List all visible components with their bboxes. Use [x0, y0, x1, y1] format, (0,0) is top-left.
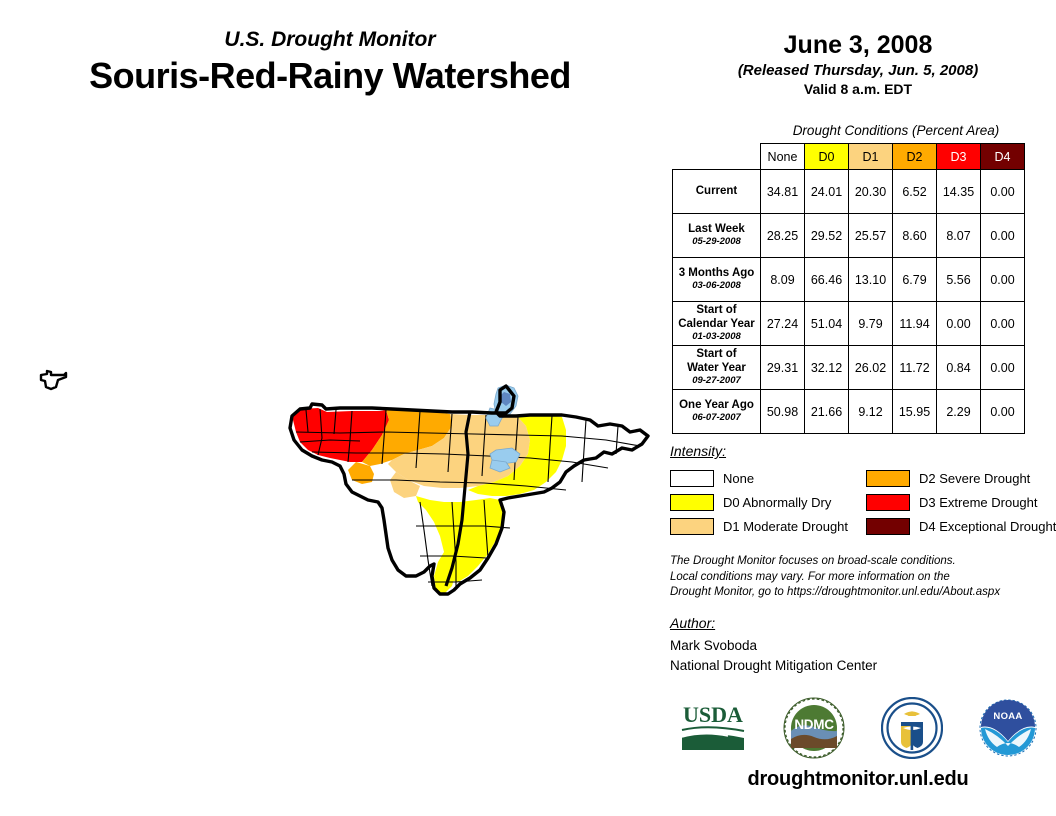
website-url: droughtmonitor.unl.edu: [660, 768, 1056, 791]
map-inset-outline-icon: [38, 368, 70, 396]
author-block: Author: Mark Svoboda National Drought Mi…: [670, 615, 1056, 675]
page-title: Souris-Red-Rainy Watershed: [0, 57, 660, 95]
watershed-drought-map: [0, 120, 660, 720]
drought-monitor-page: U.S. Drought Monitor Souris-Red-Rainy Wa…: [0, 0, 1056, 816]
table-cell-d0: 24.01: [805, 170, 849, 214]
author-name: Mark Svoboda: [670, 636, 1056, 656]
legend-swatch: [670, 470, 714, 487]
legend-item: D1 Moderate Drought: [670, 518, 866, 535]
row-label: Current: [673, 170, 761, 214]
table-cell-d0: 21.66: [805, 390, 849, 434]
table-cell-d0: 66.46: [805, 258, 849, 302]
column-header-d0: D0: [805, 144, 849, 170]
table-caption: Drought Conditions (Percent Area): [760, 123, 1032, 138]
table-cell-d2: 6.79: [893, 258, 937, 302]
svg-text:USDA: USDA: [683, 702, 743, 727]
date-block: June 3, 2008 (Released Thursday, Jun. 5,…: [660, 32, 1056, 97]
legend-swatch: [670, 494, 714, 511]
map-date: June 3, 2008: [660, 32, 1056, 60]
author-label: Author:: [670, 615, 1056, 631]
table-cell-none: 34.81: [761, 170, 805, 214]
table-cell-d1: 13.10: [849, 258, 893, 302]
legend-swatch: [670, 518, 714, 535]
intensity-legend-title: Intensity:: [670, 443, 1056, 459]
row-label: 3 Months Ago03-06-2008: [673, 258, 761, 302]
column-header-d1: D1: [849, 144, 893, 170]
table-cell-d1: 9.12: [849, 390, 893, 434]
drought-conditions-table: None D0 D1 D2 D3 D4 Current34.8124.0120.…: [672, 143, 1025, 434]
table-cell-d2: 8.60: [893, 214, 937, 258]
ndmc-logo: NDMC: [783, 697, 845, 764]
intensity-legend: Intensity: NoneD2 Severe DroughtD0 Abnor…: [670, 443, 1056, 538]
table-cell-none: 29.31: [761, 346, 805, 390]
row-label: One Year Ago06-07-2007: [673, 390, 761, 434]
legend-label: D3 Extreme Drought: [919, 495, 1038, 510]
table-cell-d3: 0.00: [937, 302, 981, 346]
table-cell-d3: 2.29: [937, 390, 981, 434]
table-cell-d1: 25.57: [849, 214, 893, 258]
legend-item: None: [670, 470, 866, 487]
logos-row: USDA NDMC: [660, 694, 1056, 766]
table-cell-d1: 20.30: [849, 170, 893, 214]
legend-item: D4 Exceptional Drought: [866, 518, 1056, 535]
table-cell-d4: 0.00: [981, 346, 1025, 390]
release-date: (Released Thursday, Jun. 5, 2008): [660, 63, 1056, 80]
table-body: Current34.8124.0120.306.5214.350.00Last …: [673, 170, 1025, 434]
disclaimer-line-3: Drought Monitor, go to https://droughtmo…: [670, 585, 1056, 601]
table-cell-d4: 0.00: [981, 302, 1025, 346]
table-row: Current34.8124.0120.306.5214.350.00: [673, 170, 1025, 214]
valid-time: Valid 8 a.m. EDT: [660, 82, 1056, 97]
noaa-logo: NOAA: [978, 698, 1038, 763]
table-header-row: None D0 D1 D2 D3 D4: [673, 144, 1025, 170]
column-header-d4: D4: [981, 144, 1025, 170]
table-row: Start ofCalendar Year01-03-200827.2451.0…: [673, 302, 1025, 346]
table-row: Last Week05-29-200828.2529.5225.578.608.…: [673, 214, 1025, 258]
table-cell-d2: 11.94: [893, 302, 937, 346]
row-label-date: 06-07-2007: [676, 413, 757, 424]
disclaimer-text: The Drought Monitor focuses on broad-sca…: [670, 554, 1056, 601]
table-cell-none: 27.24: [761, 302, 805, 346]
disclaimer-line-1: The Drought Monitor focuses on broad-sca…: [670, 554, 1056, 570]
legend-item: D2 Severe Drought: [866, 470, 1056, 487]
author-affiliation: National Drought Mitigation Center: [670, 656, 1056, 676]
table-row: One Year Ago06-07-200750.9821.669.1215.9…: [673, 390, 1025, 434]
row-label: Start ofCalendar Year01-03-2008: [673, 302, 761, 346]
table-cell-d0: 51.04: [805, 302, 849, 346]
row-label-date: 05-29-2008: [676, 237, 757, 248]
table-row: Start ofWater Year09-27-200729.3132.1226…: [673, 346, 1025, 390]
column-header-none: None: [761, 144, 805, 170]
table-cell-d0: 32.12: [805, 346, 849, 390]
legend-label: D4 Exceptional Drought: [919, 519, 1056, 534]
table-cell-d2: 6.52: [893, 170, 937, 214]
table-corner-cell: [673, 144, 761, 170]
legend-item: D0 Abnormally Dry: [670, 494, 866, 511]
legend-swatch: [866, 518, 910, 535]
table-cell-d4: 0.00: [981, 214, 1025, 258]
column-header-d2: D2: [893, 144, 937, 170]
legend-label: None: [723, 471, 754, 486]
column-header-d3: D3: [937, 144, 981, 170]
legend-item: D3 Extreme Drought: [866, 494, 1056, 511]
table-cell-d0: 29.52: [805, 214, 849, 258]
map-area: [0, 120, 660, 720]
table-cell-none: 8.09: [761, 258, 805, 302]
legend-grid: NoneD2 Severe DroughtD0 Abnormally DryD3…: [670, 466, 1056, 538]
row-label: Last Week05-29-2008: [673, 214, 761, 258]
usda-logo: USDA: [678, 700, 748, 761]
legend-label: D1 Moderate Drought: [723, 519, 848, 534]
table-cell-d2: 11.72: [893, 346, 937, 390]
usdc-seal-logo: [881, 697, 943, 764]
disclaimer-line-2: Local conditions may vary. For more info…: [670, 570, 1056, 586]
table-cell-d2: 15.95: [893, 390, 937, 434]
row-label-date: 03-06-2008: [676, 281, 757, 292]
table-cell-d3: 8.07: [937, 214, 981, 258]
row-label-date: 09-27-2007: [676, 376, 757, 387]
legend-label: D2 Severe Drought: [919, 471, 1030, 486]
row-label: Start ofWater Year09-27-2007: [673, 346, 761, 390]
organization-title: U.S. Drought Monitor: [0, 28, 660, 51]
table-cell-d1: 26.02: [849, 346, 893, 390]
table-cell-d4: 0.00: [981, 390, 1025, 434]
svg-text:NDMC: NDMC: [795, 717, 835, 732]
table-cell-none: 50.98: [761, 390, 805, 434]
table-cell-d3: 14.35: [937, 170, 981, 214]
table-cell-d1: 9.79: [849, 302, 893, 346]
table-cell-d3: 0.84: [937, 346, 981, 390]
table-cell-d4: 0.00: [981, 258, 1025, 302]
table-cell-none: 28.25: [761, 214, 805, 258]
row-label-date: 01-03-2008: [676, 332, 757, 343]
svg-text:NOAA: NOAA: [994, 711, 1023, 722]
table-cell-d3: 5.56: [937, 258, 981, 302]
legend-label: D0 Abnormally Dry: [723, 495, 831, 510]
legend-swatch: [866, 470, 910, 487]
legend-swatch: [866, 494, 910, 511]
table-cell-d4: 0.00: [981, 170, 1025, 214]
table-row: 3 Months Ago03-06-20088.0966.4613.106.79…: [673, 258, 1025, 302]
title-block: U.S. Drought Monitor Souris-Red-Rainy Wa…: [0, 28, 660, 95]
